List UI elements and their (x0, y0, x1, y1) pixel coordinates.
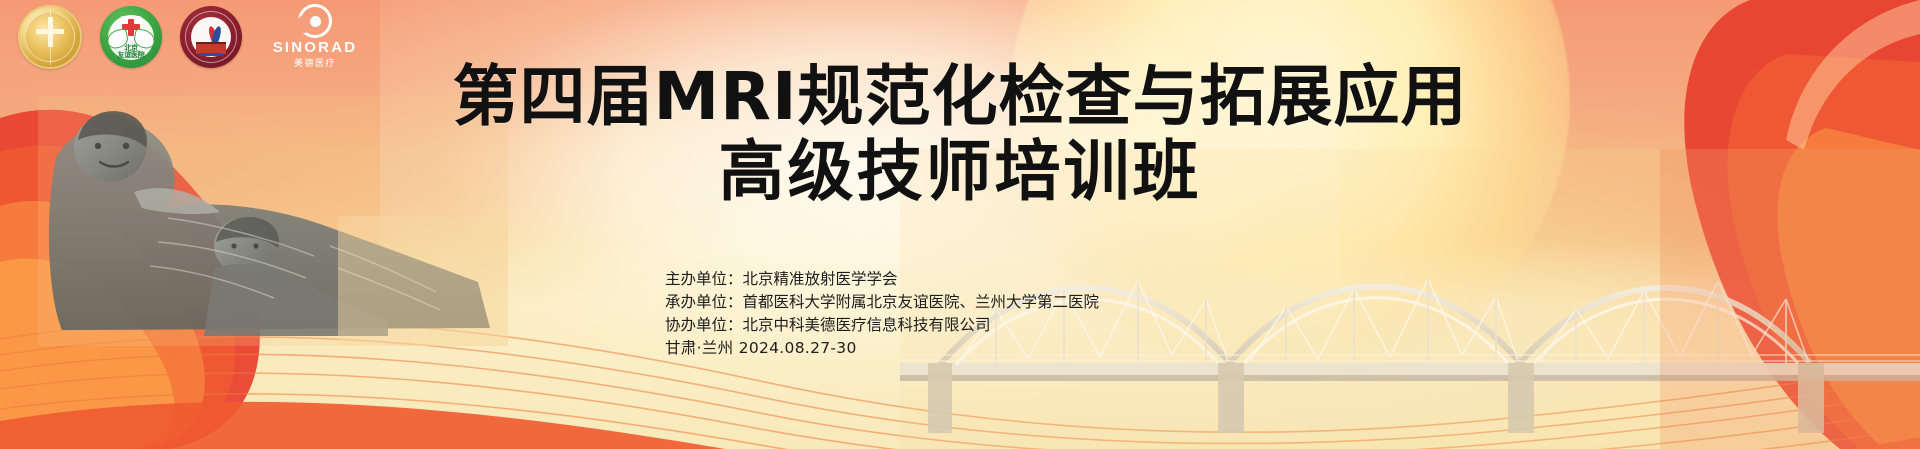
hospital-logo-text-line2: 友谊医院 (100, 52, 162, 60)
sinorad-brand-text: SINORAD (273, 40, 358, 56)
banner-title-line1: 第四届MRI规范化检查与拓展应用 (0, 60, 1920, 134)
beijing-friendship-hospital-logo: 北京 友谊医院 (100, 6, 162, 68)
banner-title-line2: 高级技师培训班 (0, 134, 1920, 210)
organizer-info-block: 主办单位：北京精准放射医学学会 承办单位：首都医科大学附属北京友谊医院、兰州大学… (665, 268, 1099, 360)
sinorad-eye-icon (298, 4, 332, 38)
info-line-place-date: 甘肃·兰州 2024.08.27-30 (665, 337, 1099, 360)
info-line-host: 主办单位：北京精准放射医学学会 (665, 268, 1099, 291)
crest-gate-band (199, 53, 223, 56)
info-line-organizer: 承办单位：首都医科大学附属北京友谊医院、兰州大学第二医院 (665, 291, 1099, 314)
hospital-logo-text: 北京 友谊医院 (100, 45, 162, 60)
title-block: 第四届MRI规范化检查与拓展应用 高级技师培训班 (0, 60, 1920, 210)
hospital-logo-text-line1: 北京 (100, 45, 162, 53)
conference-banner: 北京 友谊医院 SINORAD 美德医疗 第四届MRI规范化检查与拓展应用 高级… (0, 0, 1920, 449)
info-line-coorganizer: 协办单位：北京中科美德医疗信息科技有限公司 (665, 314, 1099, 337)
gold-medal-divider (50, 9, 51, 65)
academic-crest-logo (180, 6, 242, 68)
gold-medal-logo (18, 5, 82, 69)
